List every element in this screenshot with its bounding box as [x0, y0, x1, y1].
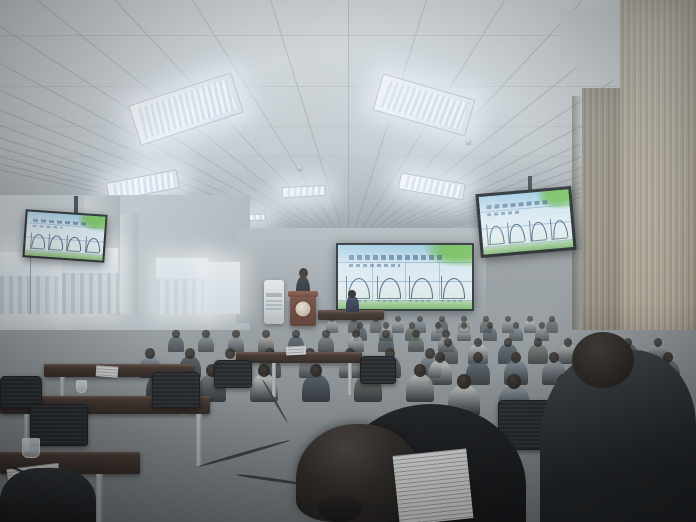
slide-chart-3 — [409, 276, 433, 299]
audience-member-head — [232, 330, 239, 338]
audience-member — [598, 385, 630, 417]
audience-member-head — [329, 316, 334, 322]
audience-member — [524, 320, 537, 333]
audience-member-head — [395, 316, 400, 322]
audience-member — [168, 336, 185, 353]
audience-member-head — [487, 322, 493, 329]
sprinkler-icon — [466, 139, 471, 144]
structural-column — [120, 214, 138, 314]
ceiling-wall-junction — [560, 10, 620, 140]
audience-member-head — [444, 338, 452, 347]
audience-member-head — [351, 316, 356, 322]
audience-member — [318, 336, 335, 353]
chair — [214, 360, 252, 388]
audience-member-head — [657, 374, 671, 389]
ceiling-light-5 — [282, 185, 327, 198]
audience-member-head — [409, 322, 415, 329]
audience-member-head — [557, 374, 571, 389]
audience-member-head — [357, 322, 363, 329]
chair — [498, 400, 562, 450]
audience-member-head — [549, 316, 554, 322]
water-cup — [22, 438, 40, 458]
audience-member-head — [383, 322, 389, 329]
audience-member-head — [483, 316, 488, 322]
handout-on-desk — [286, 345, 306, 355]
audience-member-head — [262, 330, 269, 338]
foreground-attendee-ponytail — [318, 496, 362, 522]
desk-leg — [348, 363, 352, 395]
window-center — [156, 258, 208, 314]
audience-member — [408, 336, 425, 353]
audience-member-head — [185, 348, 195, 359]
audience-member-head — [352, 330, 359, 338]
desk-leg — [272, 363, 276, 397]
slide-chart-2 — [377, 276, 401, 299]
audience-member-head — [474, 338, 482, 347]
desk-leg — [96, 474, 103, 522]
audience-member-head — [417, 316, 422, 322]
wall-monitor-right — [475, 186, 576, 258]
audience-member-head — [412, 330, 419, 338]
audience-member-head — [505, 316, 510, 322]
training-room-photo — [0, 0, 696, 522]
desk-leg — [196, 414, 202, 466]
audience-member-head — [145, 348, 155, 359]
air-conditioner-unit — [264, 280, 284, 324]
water-cup — [76, 380, 87, 393]
audience-member-head — [507, 374, 521, 389]
sprinkler-icon — [298, 166, 302, 170]
audience-member-head — [654, 338, 662, 347]
audience-member-head — [202, 330, 209, 338]
window-left-far — [0, 252, 62, 314]
audience-member-head — [461, 316, 466, 322]
lectern-emblem-icon — [296, 301, 311, 316]
audience-member — [198, 336, 215, 353]
window-whiteboard-glow — [206, 262, 240, 314]
slide-chart-4 — [441, 276, 465, 299]
audience-member — [448, 385, 480, 417]
chair — [360, 356, 396, 384]
presenter-head — [299, 268, 308, 278]
audience-member — [457, 327, 471, 341]
audience-member-head — [513, 322, 519, 329]
audience-member — [648, 385, 680, 417]
audience-member-head — [382, 330, 389, 338]
wall-monitor-left — [22, 209, 107, 263]
front-operator-head — [348, 290, 356, 298]
slide-title-text — [349, 255, 443, 259]
audience-member-head — [534, 338, 542, 347]
audience-member — [406, 374, 435, 403]
audience-member-head — [461, 322, 467, 329]
audience-member-head — [564, 338, 572, 347]
audience-member-head — [442, 330, 449, 338]
audience-member-head — [292, 330, 299, 338]
audience-member — [528, 344, 547, 363]
foreground-handout — [393, 448, 474, 522]
chair — [152, 372, 200, 408]
audience-member-head — [225, 348, 235, 359]
audience-member-head — [172, 330, 179, 338]
audience-member-head — [435, 322, 441, 329]
audience-member-head — [425, 348, 435, 359]
audience-member-head — [504, 338, 512, 347]
slide-subtitle-text — [349, 264, 400, 267]
foreground-attendee-right-head — [572, 332, 634, 388]
audience-member-head — [322, 330, 329, 338]
front-operator — [346, 296, 359, 312]
audience-member — [483, 327, 497, 341]
audience-member-head — [373, 316, 378, 322]
audience-member — [392, 320, 405, 333]
lectern-top — [288, 291, 318, 297]
audience-member-head — [457, 374, 471, 389]
audience-member-head — [527, 316, 532, 322]
audience-member-head — [539, 322, 545, 329]
handout-on-desk — [96, 365, 119, 378]
audience-member — [302, 374, 331, 403]
audience-member-head — [439, 316, 444, 322]
lectern — [290, 296, 316, 326]
presentation-slide — [338, 245, 472, 309]
